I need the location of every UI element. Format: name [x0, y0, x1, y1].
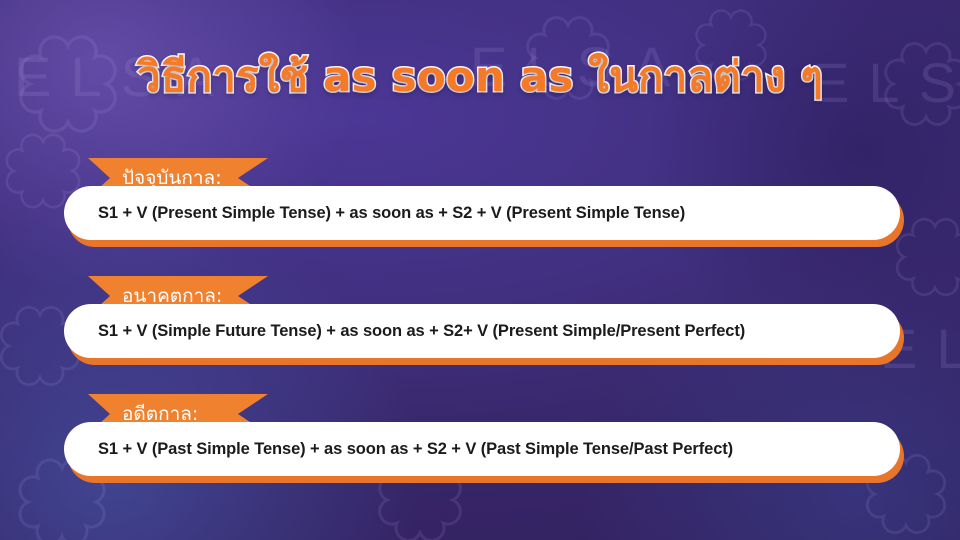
formula-card-past: S1 + V (Past Simple Tense) + as soon as …	[64, 422, 900, 476]
card-surface: S1 + V (Past Simple Tense) + as soon as …	[64, 422, 900, 476]
tense-row-present: ปัจจุบันกาล: S1 + V (Present Simple Tens…	[0, 152, 960, 262]
page-title: วิธีการใช้ as soon as ในกาลต่าง ๆ	[0, 52, 960, 102]
tense-row-past: อดีตกาล: S1 + V (Past Simple Tense) + as…	[0, 388, 960, 498]
formula-text: S1 + V (Present Simple Tense) + as soon …	[98, 204, 685, 223]
tense-tag-label: อดีตกาล:	[122, 405, 198, 424]
formula-card-future: S1 + V (Simple Future Tense) + as soon a…	[64, 304, 900, 358]
tense-tag-label: อนาคตกาล:	[122, 287, 222, 306]
formula-text: S1 + V (Past Simple Tense) + as soon as …	[98, 440, 733, 459]
tense-row-future: อนาคตกาล: S1 + V (Simple Future Tense) +…	[0, 270, 960, 380]
tense-tag-label: ปัจจุบันกาล:	[122, 169, 222, 188]
card-surface: S1 + V (Simple Future Tense) + as soon a…	[64, 304, 900, 358]
card-surface: S1 + V (Present Simple Tense) + as soon …	[64, 186, 900, 240]
formula-card-present: S1 + V (Present Simple Tense) + as soon …	[64, 186, 900, 240]
slide-canvas: ELSAELSAELSAELSA วิธีการใช้ as soon as ใ…	[0, 0, 960, 540]
formula-text: S1 + V (Simple Future Tense) + as soon a…	[98, 322, 745, 341]
